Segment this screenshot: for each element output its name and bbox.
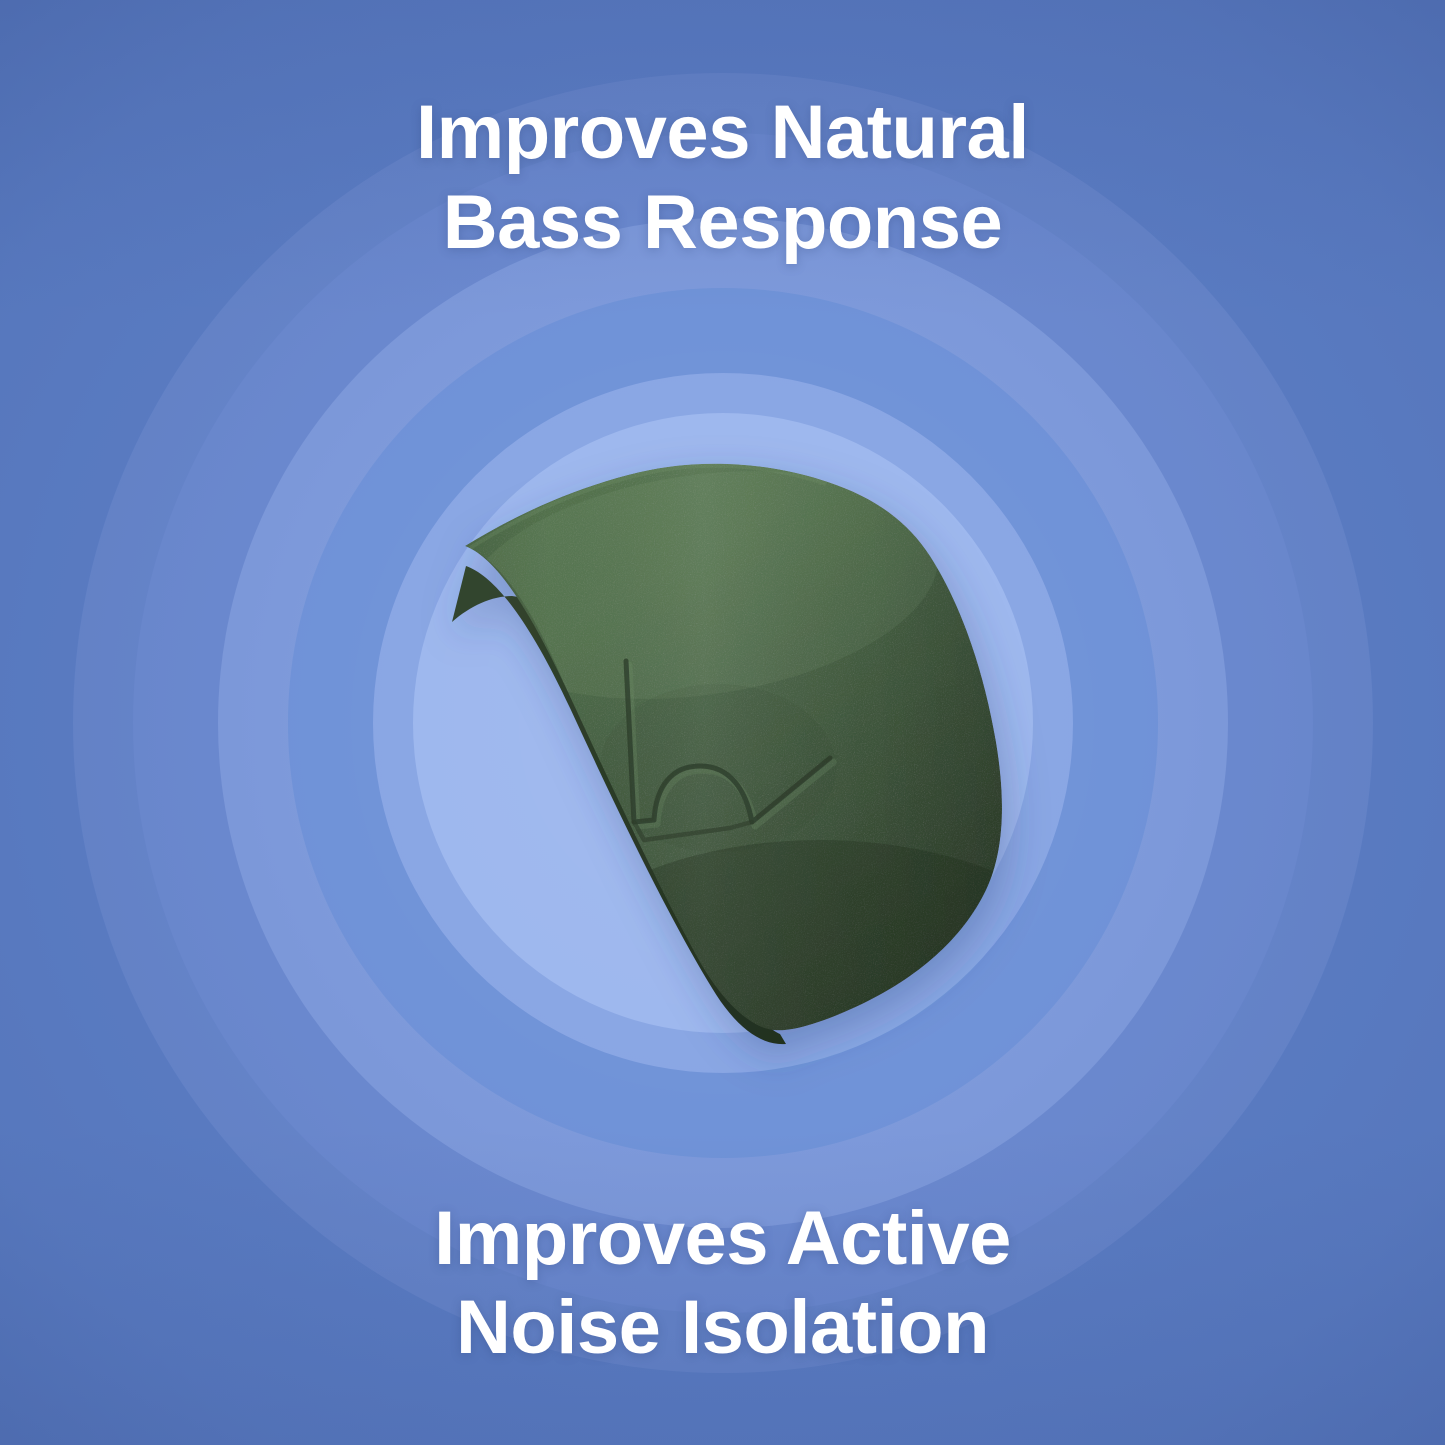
headline-bottom: Improves Active Noise Isolation bbox=[0, 1194, 1445, 1373]
background-sheen bbox=[0, 0, 1445, 1445]
sonar-ring-4 bbox=[288, 288, 1158, 1158]
sonar-ring-1 bbox=[73, 73, 1373, 1373]
sonar-ring-5 bbox=[373, 373, 1073, 1073]
ear-pad-back-layer bbox=[452, 566, 786, 1044]
sonar-ring-2 bbox=[133, 133, 1313, 1313]
headline-top: Improves Natural Bass Response bbox=[0, 88, 1445, 267]
sonar-ring-6 bbox=[413, 413, 1033, 1033]
ear-pad-face bbox=[465, 464, 1002, 1031]
brand-h-monogram-icon bbox=[600, 661, 836, 852]
sonar-ring-3 bbox=[218, 218, 1228, 1228]
monogram-stroke bbox=[626, 661, 830, 822]
ear-pad-product-image bbox=[0, 0, 1445, 1445]
background-vignette bbox=[0, 0, 1445, 1445]
product-feature-graphic: Improves Natural Bass Response Improves … bbox=[0, 0, 1445, 1445]
